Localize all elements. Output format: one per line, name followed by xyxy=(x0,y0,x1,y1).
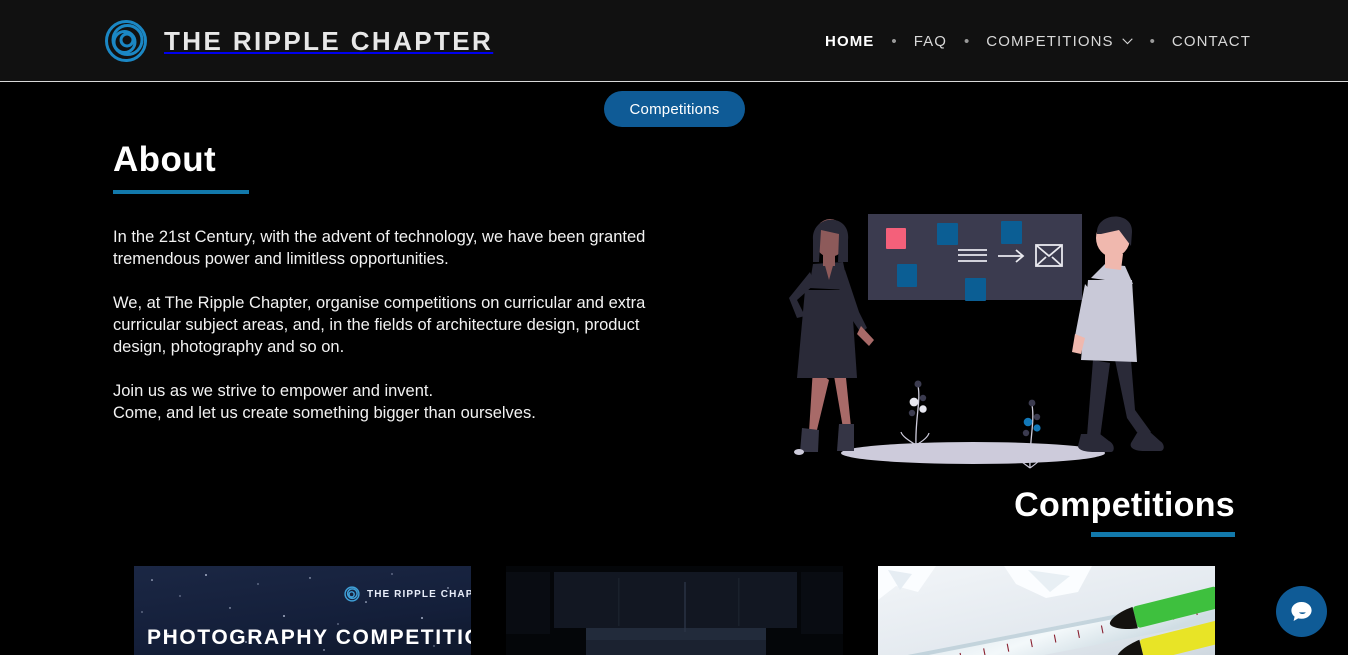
ripple-logo-icon xyxy=(104,19,148,63)
chat-bubble-icon xyxy=(1289,599,1314,624)
site-header: THE RIPPLE CHAPTER HOME • FAQ • COMPETIT… xyxy=(0,0,1348,82)
card-title: PHOTOGRAPHY COMPETITION xyxy=(147,626,471,650)
chevron-down-icon xyxy=(1122,38,1133,45)
figure-man xyxy=(1072,216,1164,452)
about-paragraph: Join us as we strive to empower and inve… xyxy=(113,380,683,424)
plant-left xyxy=(901,381,929,446)
competitions-pill-button[interactable]: Competitions xyxy=(604,91,745,127)
nav-separator: • xyxy=(875,33,912,50)
brand-name: THE RIPPLE CHAPTER xyxy=(164,26,493,57)
design-competition-card[interactable] xyxy=(878,566,1215,655)
dark-building-thumbnail xyxy=(506,566,843,655)
nav-separator: • xyxy=(948,33,985,50)
sticky-note-blue xyxy=(965,278,986,301)
competitions-heading-underline xyxy=(1091,532,1235,537)
nav-label: FAQ xyxy=(914,33,947,50)
competitions-section: Competitions xyxy=(1014,484,1235,537)
page-root: THE RIPPLE CHAPTER HOME • FAQ • COMPETIT… xyxy=(0,0,1348,655)
sticky-note-pink xyxy=(886,228,906,249)
about-section: About In the 21st Century, with the adve… xyxy=(113,138,713,424)
sticky-note-blue xyxy=(937,223,958,245)
nav-item-contact[interactable]: CONTACT xyxy=(1171,33,1252,50)
photography-competition-card[interactable]: THE RIPPLE CHAPTER PHOTOGRAPHY COMPETITI… xyxy=(134,566,471,655)
chat-widget-button[interactable] xyxy=(1276,586,1327,637)
sticky-note-blue xyxy=(1001,221,1022,244)
ripple-logo-icon xyxy=(344,586,360,602)
nav-label: COMPETITIONS xyxy=(986,33,1113,50)
competitions-heading: Competitions xyxy=(1014,484,1235,526)
nav-separator: • xyxy=(1134,33,1171,50)
main-navigation: HOME • FAQ • COMPETITIONS • CONTACT xyxy=(824,0,1252,82)
nav-label: HOME xyxy=(825,33,874,50)
brand-logo-link[interactable]: THE RIPPLE CHAPTER xyxy=(104,18,493,64)
team-collaboration-illustration xyxy=(775,200,1185,475)
nav-item-faq[interactable]: FAQ xyxy=(913,33,948,50)
card-brand-label: THE RIPPLE CHAPTER xyxy=(367,589,471,600)
about-heading: About xyxy=(113,138,713,182)
about-body: In the 21st Century, with the advent of … xyxy=(113,226,713,424)
architecture-competition-card[interactable] xyxy=(506,566,843,655)
about-paragraph: In the 21st Century, with the advent of … xyxy=(113,226,683,270)
about-paragraph: We, at The Ripple Chapter, organise comp… xyxy=(113,292,683,358)
nav-item-home[interactable]: HOME xyxy=(824,33,875,50)
ruler-markers-thumbnail xyxy=(878,566,1215,655)
sticky-note-blue xyxy=(897,264,917,287)
about-heading-underline xyxy=(113,190,249,194)
card-brand-row: THE RIPPLE CHAPTER xyxy=(344,586,471,602)
ground-shadow xyxy=(841,442,1105,464)
nav-item-competitions[interactable]: COMPETITIONS xyxy=(985,33,1133,50)
competition-cards-row: THE RIPPLE CHAPTER PHOTOGRAPHY COMPETITI… xyxy=(134,566,1216,655)
figure-woman xyxy=(789,219,874,455)
nav-label: CONTACT xyxy=(1172,33,1251,50)
